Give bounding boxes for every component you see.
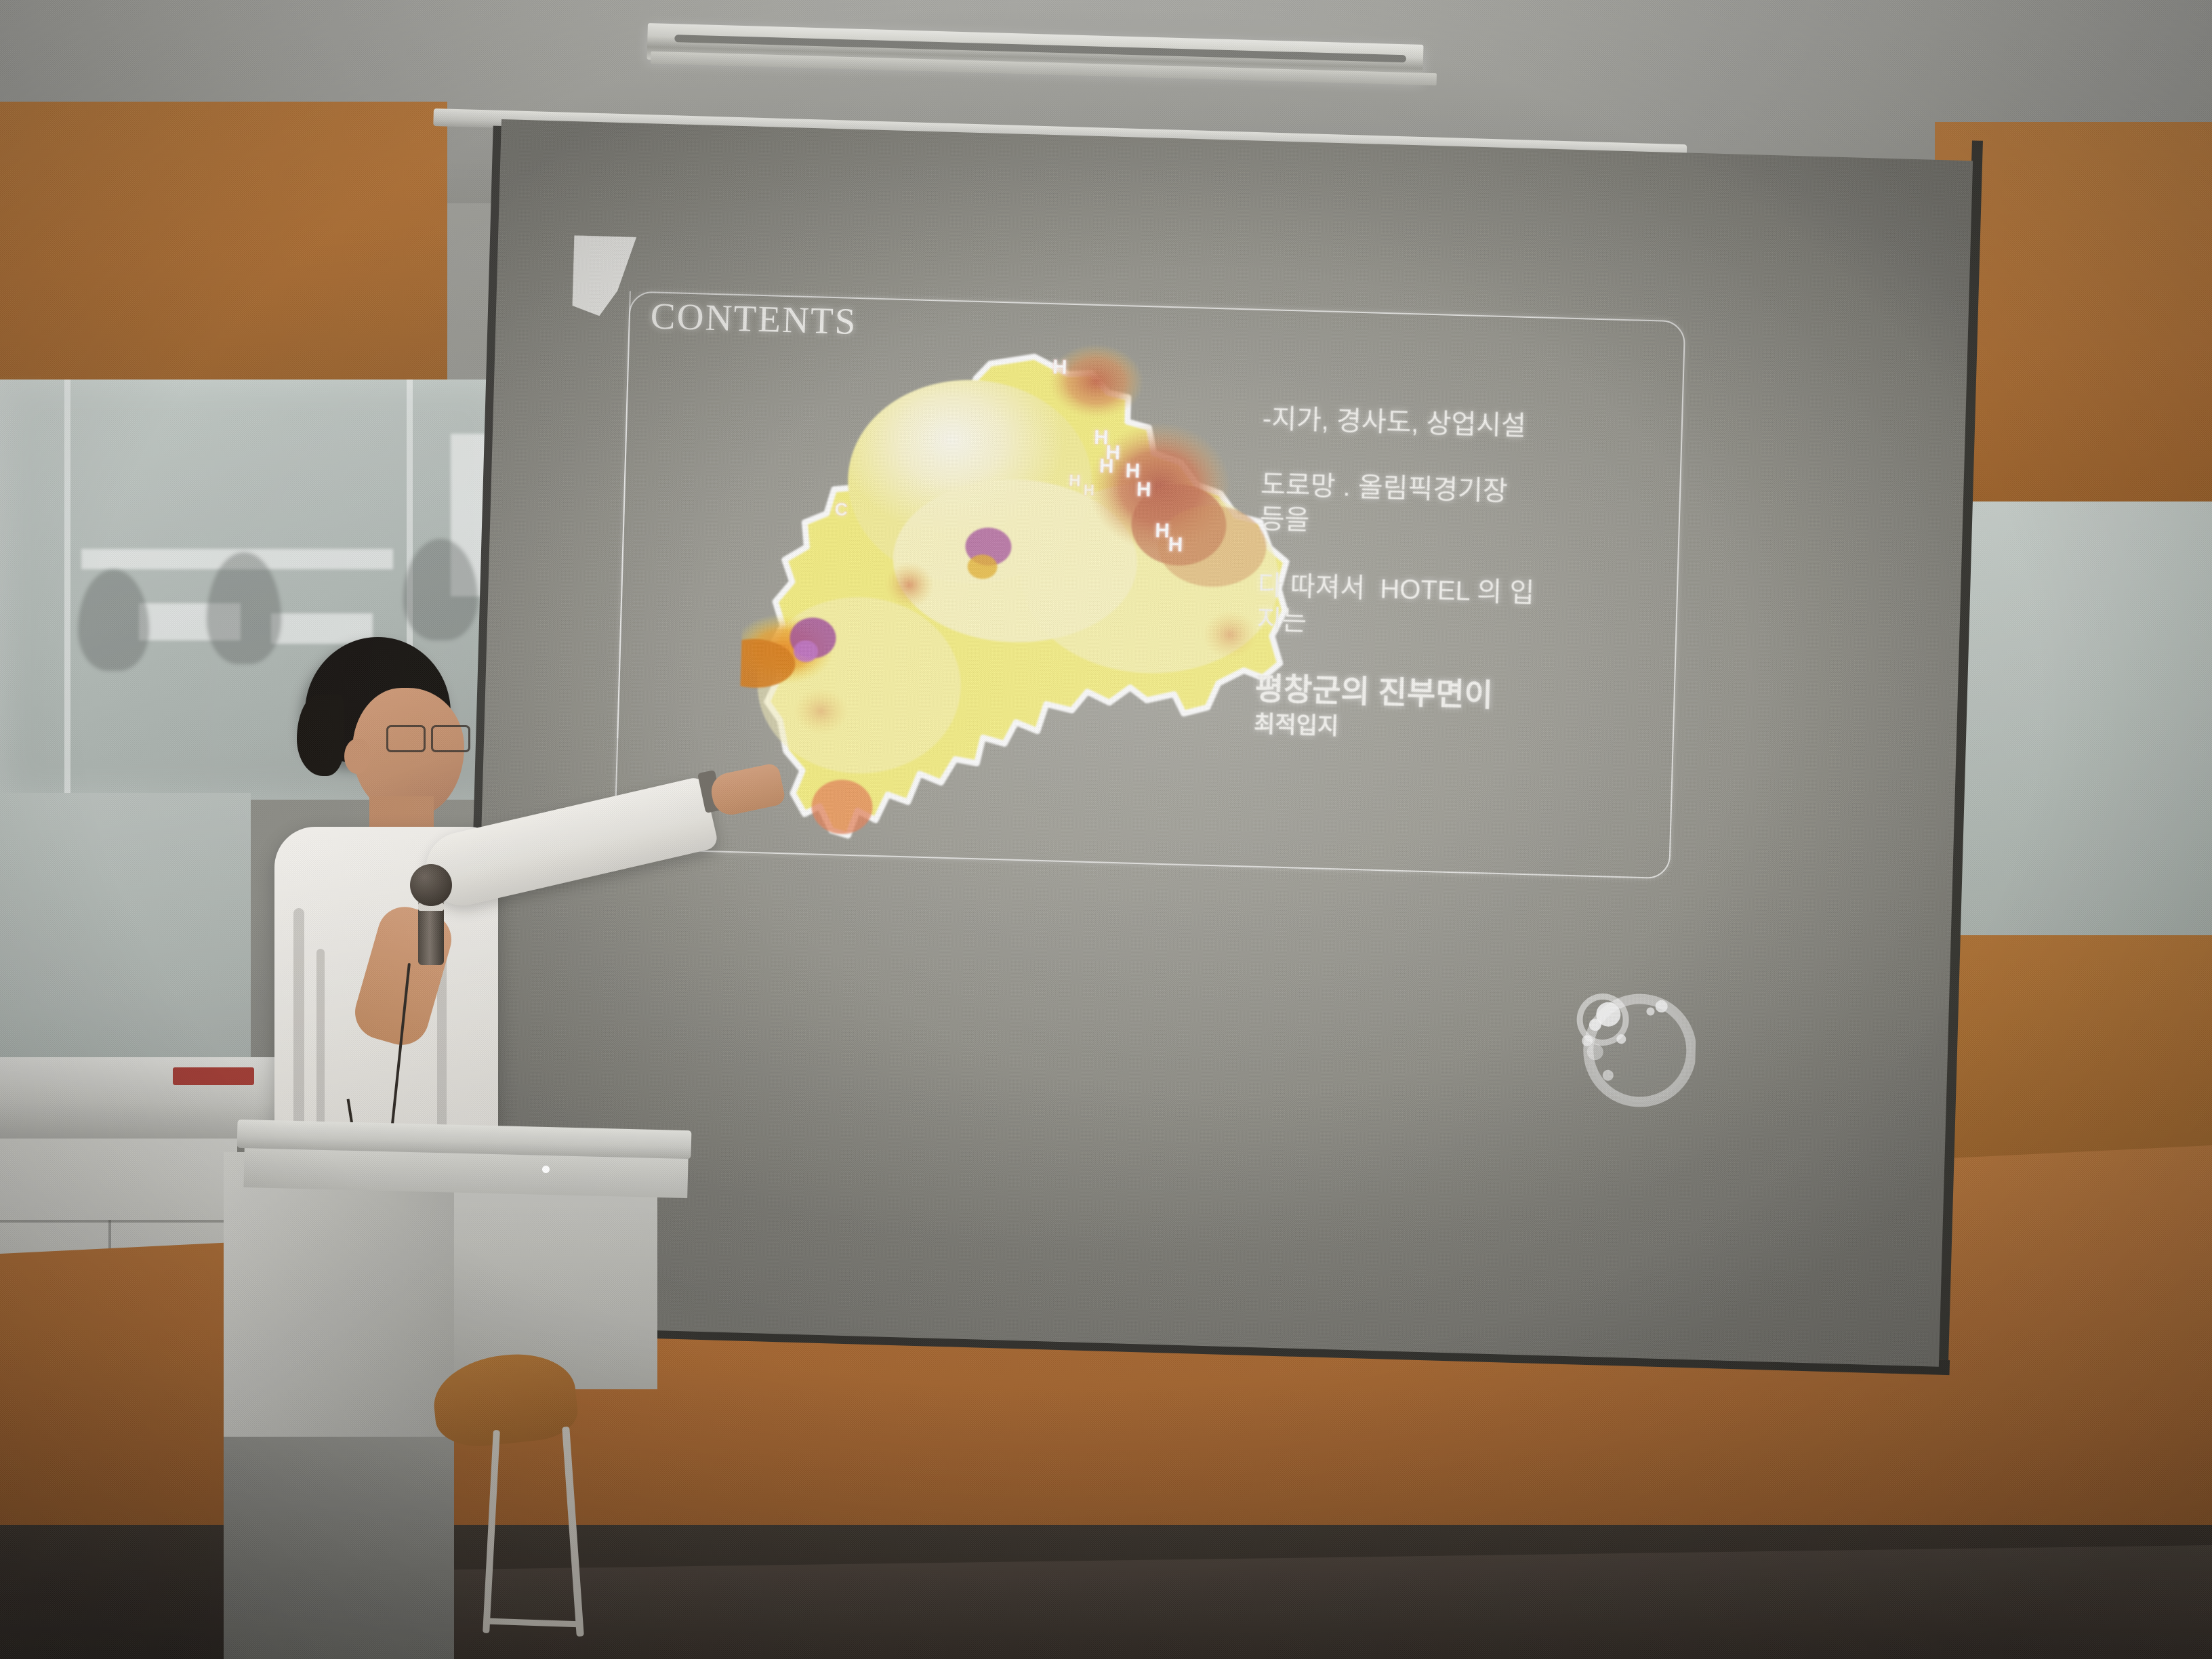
- slide-text-line-2: 도로망 . 올림픽경기장 등을: [1259, 468, 1681, 549]
- photo-scene: CONTENTS: [0, 0, 2212, 1659]
- bubble-logo-icon: [1558, 975, 1698, 1115]
- hotel-marker-icon: H: [1052, 357, 1068, 378]
- slide-text-block: -지가, 경사도, 상업시설 도로망 . 올림픽경기장 등을 다 따져서 HOT…: [1252, 402, 1683, 783]
- pentagon-tag-icon: [572, 235, 636, 317]
- frosted-glass-partition-right: [1935, 501, 2212, 935]
- slide-text-line-3: 다 따져서 HOTEL 의 입 지는: [1256, 568, 1679, 649]
- presenter-ear: [344, 739, 370, 774]
- hotel-marker-icon: H: [1099, 456, 1114, 477]
- presenter-pointing-arm: [419, 776, 719, 913]
- hotel-marker-icon: H: [1168, 535, 1183, 556]
- podium-lower-shadow: [224, 1437, 454, 1659]
- microphone-head: [410, 864, 452, 906]
- pyeongchang-heatmap: [735, 330, 1313, 888]
- podium-indicator-light: [542, 1166, 550, 1173]
- hotel-marker-icon: H: [1084, 483, 1095, 498]
- hotel-marker-icon: C: [835, 500, 848, 518]
- hotel-marker-icon: H: [1136, 480, 1151, 501]
- glasses-icon: [386, 725, 468, 750]
- hotel-marker-icon: H: [1069, 473, 1081, 489]
- wood-panel-left: [0, 102, 447, 400]
- podium-side: [454, 1166, 657, 1389]
- presenter-hair-side: [297, 695, 344, 776]
